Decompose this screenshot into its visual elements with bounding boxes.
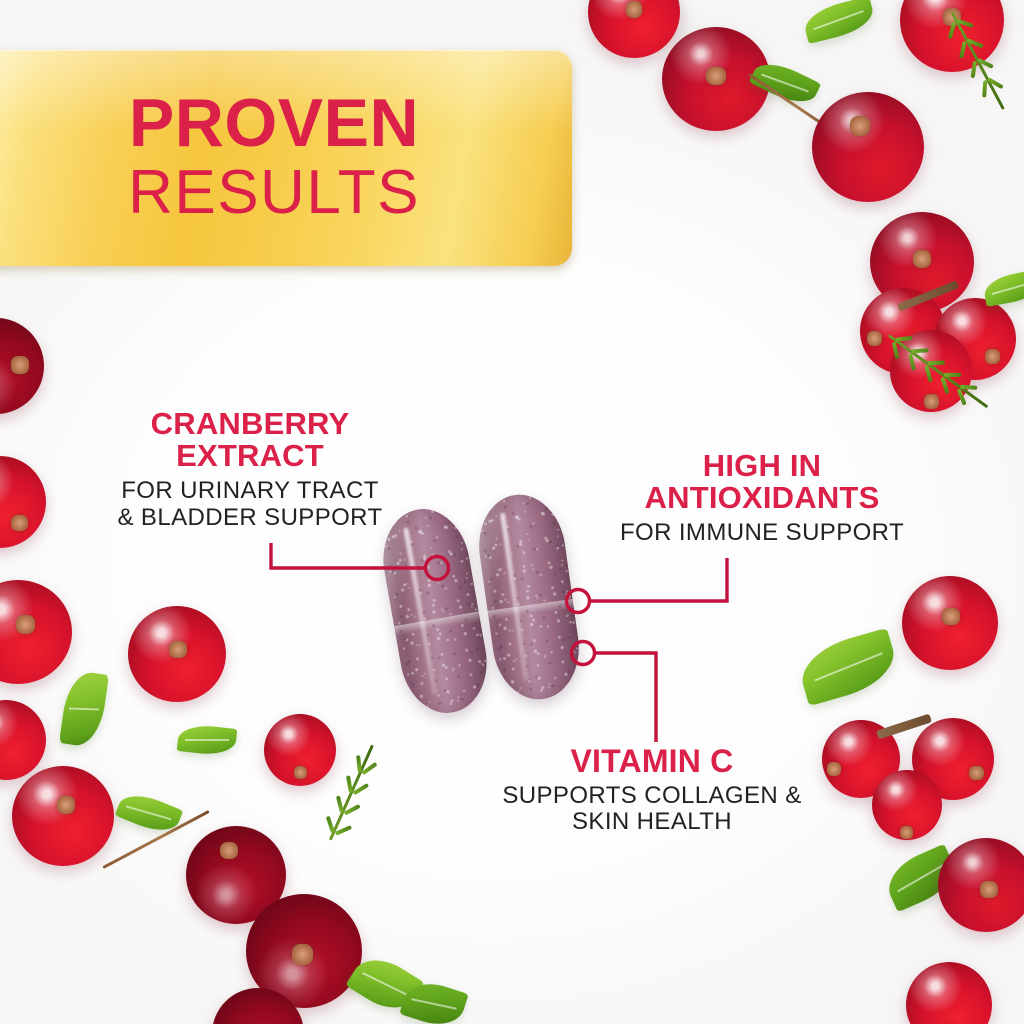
berry-calyx (220, 842, 238, 860)
berry-calyx (626, 1, 643, 18)
sprig-needle (928, 361, 945, 366)
callout-subtext: FOR IMMUNE SUPPORT (588, 520, 936, 546)
callout-subtext: SUPPORTS COLLAGEN & SKIN HEALTH (492, 783, 812, 836)
callout-heading-line1: HIGH IN (588, 450, 936, 482)
callout-subtext-line2: & BLADDER SUPPORT (100, 505, 400, 531)
berry-calyx (294, 766, 307, 779)
berry-calyx (969, 766, 984, 781)
berry-calyx (850, 116, 870, 136)
cranberry (902, 576, 998, 670)
cranberry (938, 838, 1024, 932)
cranberry (872, 770, 942, 840)
callout-heading: CRANBERRY EXTRACT (100, 408, 400, 471)
cranberry (264, 714, 336, 786)
berry-calyx (827, 762, 841, 776)
product-infographic: PROVEN RESULTS CRANBERRY EXTRACT FOR URI… (0, 0, 1024, 1024)
proven-results-banner: PROVEN RESULTS (0, 50, 572, 266)
capsule-left (375, 502, 495, 720)
callout-high-in-antioxidants: HIGH IN ANTIOXIDANTS FOR IMMUNE SUPPORT (588, 450, 936, 547)
callout-cranberry-extract: CRANBERRY EXTRACT FOR URINARY TRACT & BL… (100, 408, 400, 531)
callout-subtext-line1: FOR IMMUNE SUPPORT (588, 520, 936, 546)
banner-headline-proven: PROVEN (129, 91, 419, 156)
berry-calyx (942, 608, 959, 625)
berry-calyx (11, 356, 28, 373)
berry-calyx (57, 796, 75, 814)
callout-subtext: FOR URINARY TRACT & BLADDER SUPPORT (100, 478, 400, 531)
banner-headline-results: RESULTS (128, 160, 420, 225)
berry-calyx (11, 515, 28, 532)
callout-subtext-line1: SUPPORTS COLLAGEN & (492, 783, 812, 809)
callout-heading-line1: CRANBERRY (100, 408, 400, 440)
callout-heading-line2: ANTIOXIDANTS (588, 482, 936, 514)
berry-calyx (980, 881, 997, 898)
callout-subtext-line1: FOR URINARY TRACT (100, 478, 400, 504)
capsule-pair (382, 492, 618, 732)
capsule-granules (472, 489, 586, 705)
callout-heading: HIGH IN ANTIOXIDANTS (588, 450, 936, 513)
callout-heading-line1: VITAMIN C (492, 745, 812, 778)
callout-heading: VITAMIN C (492, 745, 812, 778)
berry-calyx (706, 67, 725, 86)
berry-calyx (16, 615, 35, 634)
cranberry (128, 606, 226, 702)
berry-calyx (169, 641, 187, 658)
sprig-needle (944, 373, 961, 377)
callout-vitamin-c: VITAMIN C SUPPORTS COLLAGEN & SKIN HEALT… (492, 745, 812, 835)
capsule-granules (375, 502, 495, 720)
callout-subtext-line2: SKIN HEALTH (492, 809, 812, 835)
berry-calyx (913, 250, 932, 268)
berry-calyx (924, 394, 939, 409)
cranberry (12, 766, 114, 866)
berry-calyx (867, 331, 882, 346)
cranberry (812, 92, 924, 202)
berry-calyx (900, 826, 913, 839)
berry-calyx (292, 944, 313, 965)
callout-heading-line2: EXTRACT (100, 440, 400, 472)
banner-text-block: PROVEN RESULTS (0, 50, 548, 266)
berry-calyx (985, 349, 1000, 364)
capsule-right (472, 489, 586, 705)
